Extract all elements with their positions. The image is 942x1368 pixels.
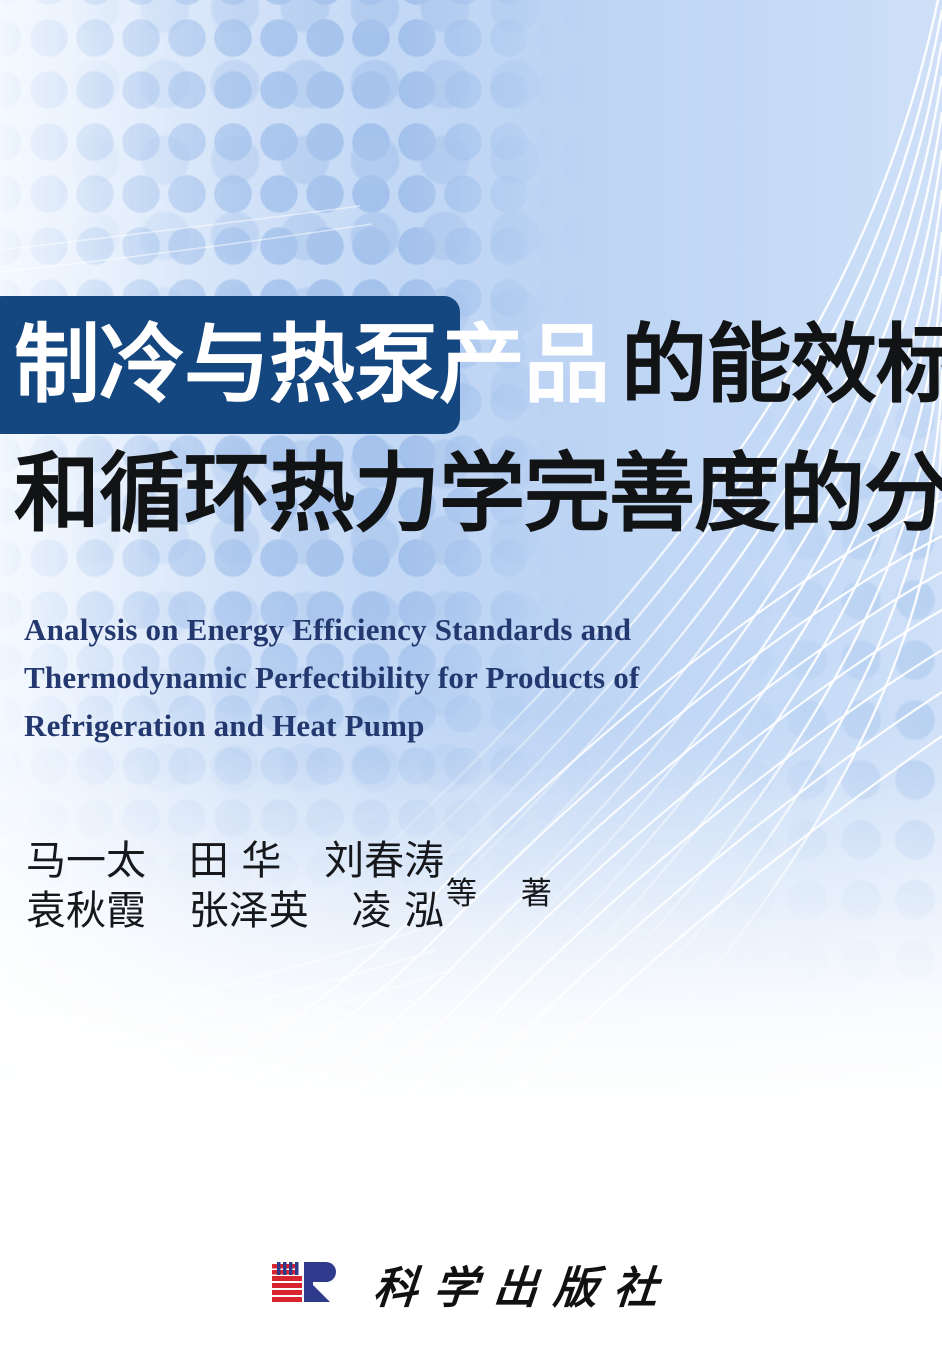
byline: 等 著 [446,868,552,913]
subtitle-line-3: Refrigeration and Heat Pump [24,702,784,750]
title-line-2: 和循环热力学完善度的分析 [0,446,942,542]
book-cover: 制冷与热泵产品 的能效标准研究 和循环热力学完善度的分析 Analysis on… [0,0,942,1368]
author-name: 袁秋霞 [26,886,146,936]
subtitle-line-1: Analysis on Energy Efficiency Standards … [24,606,784,654]
title-plain-text: 的能效标准研究 [621,322,942,408]
science-press-logo-icon [268,1259,336,1309]
author-name: 张泽英 [189,886,309,936]
author-name: 田 华 [189,836,282,886]
subtitle-english: Analysis on Energy Efficiency Standards … [24,606,784,750]
title-block: 制冷与热泵产品 的能效标准研究 和循环热力学完善度的分析 [0,292,942,542]
author-row-2: 袁秋霞 张泽英 凌 泓 [26,886,666,936]
author-block: 马一太 田 华 刘春涛 袁秋霞 张泽英 凌 泓 等 著 [26,836,666,937]
publisher-name: 科学出版社 [371,1252,677,1316]
title-line-1: 制冷与热泵产品 的能效标准研究 [0,292,942,438]
author-name: 凌 泓 [351,886,444,936]
subtitle-line-2: Thermodynamic Perfectibility for Product… [24,654,784,702]
author-name: 刘春涛 [324,836,444,886]
byline-role: 著 [521,876,552,912]
publisher-block: 科学出版社 [0,1252,942,1316]
author-row-1: 马一太 田 华 刘春涛 [26,836,666,886]
byline-et-al: 等 [446,876,477,912]
title-boxed-text: 制冷与热泵产品 [14,322,609,408]
author-name: 马一太 [26,836,146,886]
